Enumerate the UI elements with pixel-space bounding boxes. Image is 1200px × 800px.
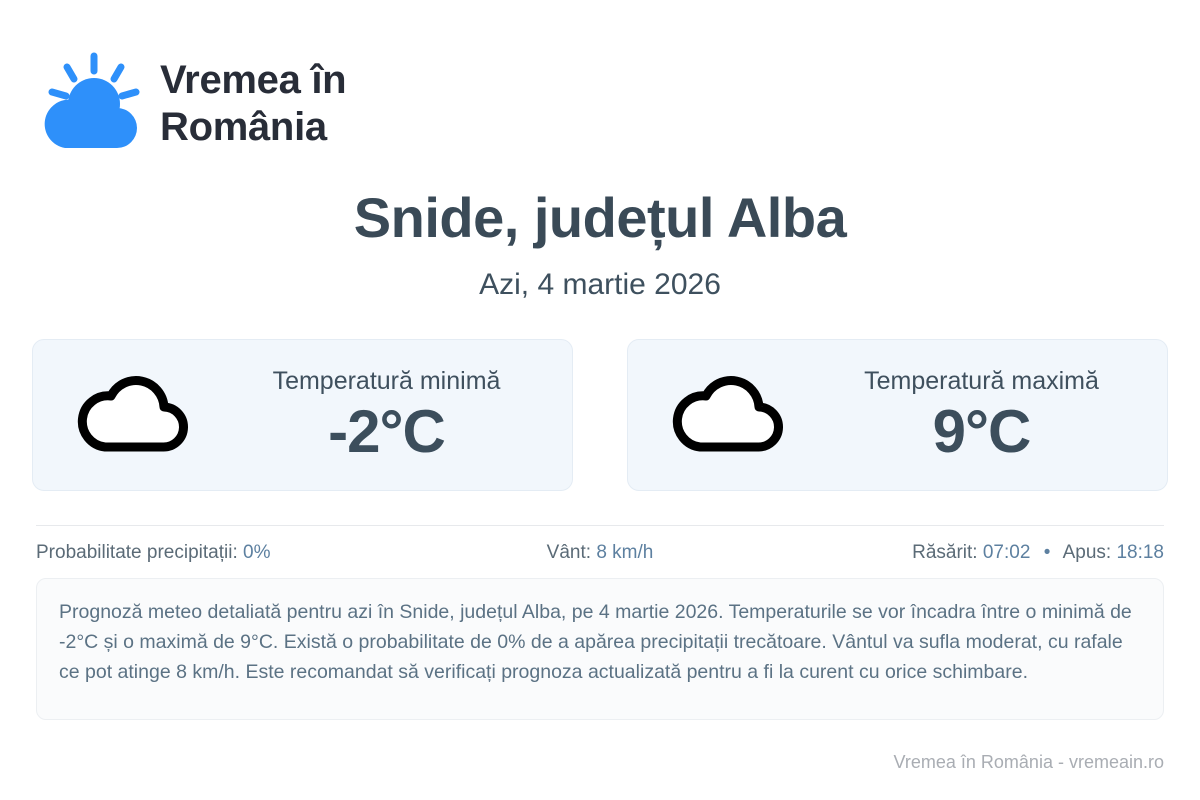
brand-header[interactable]: Vremea în România xyxy=(36,52,420,156)
min-temperature-label: Temperatură minimă xyxy=(273,365,501,397)
max-temperature-card: Temperatură maximă 9°C xyxy=(627,339,1168,491)
sunrise-label: Răsărit: xyxy=(912,542,977,563)
min-temperature-card: Temperatură minimă -2°C xyxy=(32,339,573,491)
precipitation-stat: Probabilitate precipitații: 0% xyxy=(36,540,412,566)
weather-stats-row: Probabilitate precipitații: 0% Vânt: 8 k… xyxy=(36,540,1164,566)
forecast-description-text: Prognoză meteo detaliată pentru azi în S… xyxy=(59,597,1135,687)
wind-stat: Vânt: 8 km/h xyxy=(412,540,788,566)
max-temperature-value: 9°C xyxy=(933,397,1031,467)
weather-page: Vremea în România Snide, județul Alba Az… xyxy=(0,0,1200,800)
cloud-icon xyxy=(664,369,792,461)
page-subtitle: Azi, 4 martie 2026 xyxy=(0,265,1200,305)
wind-label: Vânt: xyxy=(547,542,591,563)
section-divider xyxy=(36,525,1164,526)
sunset-label: Apus: xyxy=(1063,542,1112,563)
sunset-value: 18:18 xyxy=(1116,542,1164,563)
sun-times-stat: Răsărit: 07:02 • Apus: 18:18 xyxy=(788,540,1164,566)
bullet-separator-icon: • xyxy=(1036,542,1059,563)
cloud-icon xyxy=(69,369,197,461)
forecast-description-box: Prognoză meteo detaliată pentru azi în S… xyxy=(36,578,1164,720)
page-footer: Vremea în România - vremeain.ro xyxy=(0,750,1164,774)
page-title: Snide, județul Alba xyxy=(0,182,1200,254)
brand-name: Vremea în România xyxy=(160,57,420,151)
temperature-cards: Temperatură minimă -2°C Temperatură maxi… xyxy=(32,339,1168,491)
min-temperature-value: -2°C xyxy=(328,397,445,467)
precipitation-value: 0% xyxy=(243,542,270,563)
sun-behind-cloud-icon xyxy=(36,52,144,156)
precipitation-label: Probabilitate precipitații: xyxy=(36,542,238,563)
wind-value: 8 km/h xyxy=(596,542,653,563)
sunrise-value: 07:02 xyxy=(983,542,1031,563)
max-temperature-label: Temperatură maximă xyxy=(864,365,1099,397)
